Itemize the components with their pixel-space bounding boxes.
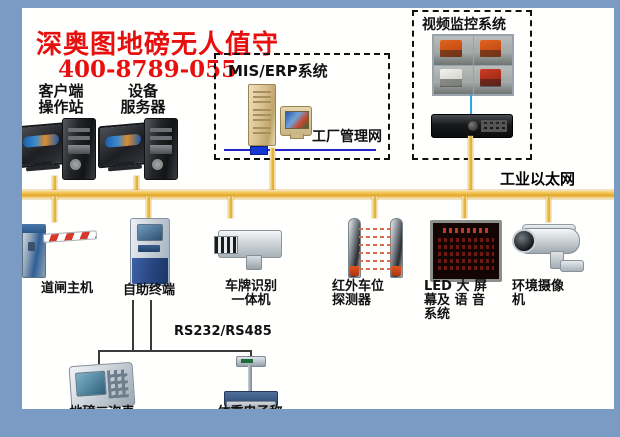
lan-line <box>224 149 376 151</box>
group-title-mis-erp: MIS/ERP系统 <box>228 60 328 81</box>
serial-wire <box>132 300 134 352</box>
bullet-camera-icon <box>510 220 590 272</box>
diagram-canvas: 深奥图地磅无人值守 400-8789-055 客户端 操作站 设备 服务器 MI… <box>22 8 614 409</box>
barrier-gate-icon <box>22 214 96 276</box>
label-factory-network: 工厂管理网 <box>312 126 382 146</box>
drop-line <box>462 196 467 218</box>
ethernet-backbone-bus <box>22 190 614 199</box>
desktop-pc-icon <box>98 118 184 180</box>
label-ir-detector: 红外车位 探测器 <box>332 280 420 308</box>
drop-line <box>228 196 233 218</box>
serial-wire <box>150 300 152 328</box>
serial-wire <box>150 326 152 352</box>
crt-monitor-icon <box>280 106 312 136</box>
platform-scale-icon <box>222 356 278 409</box>
dvr-icon <box>431 114 513 138</box>
label-lpr-camera: 车牌识别 一体机 <box>204 280 298 308</box>
label-platform-scale: 体重电子称 <box>172 406 328 409</box>
quad-view-monitor-icon <box>432 34 514 96</box>
drop-line <box>468 136 473 198</box>
desktop-pc-icon <box>22 118 102 180</box>
label-weighbridge-indicator: 地磅二次表 <box>56 406 148 409</box>
label-env-camera: 环境摄像 机 <box>512 280 600 308</box>
phone-number: 400-8789-055 <box>58 56 237 83</box>
weight-indicator-icon <box>69 362 136 409</box>
diagram-frame: 深奥图地磅无人值守 400-8789-055 客户端 操作站 设备 服务器 MI… <box>0 0 620 437</box>
label-industrial-ethernet: 工业以太网 <box>500 168 575 192</box>
serial-wire <box>98 350 134 352</box>
label-led-display: LED 大 屏 幕及 语 音 系统 <box>424 280 510 322</box>
label-rs232-rs485: RS232/RS485 <box>174 324 272 339</box>
lan-connector-icon <box>250 146 268 155</box>
label-client-workstation: 客户端 操作站 <box>22 84 104 116</box>
serial-wire <box>98 350 100 364</box>
box-camera-icon <box>212 224 288 270</box>
drop-line <box>546 196 551 222</box>
drop-line <box>146 196 151 218</box>
server-tower-icon <box>248 84 276 146</box>
infrared-detector-icon <box>344 214 406 280</box>
label-self-service-kiosk: 自助终端 <box>106 284 192 298</box>
video-link-wire <box>470 94 472 114</box>
label-barrier-gate: 道闸主机 <box>22 282 112 296</box>
kiosk-terminal-icon <box>130 218 170 286</box>
led-display-icon <box>430 220 502 282</box>
group-title-video-surveillance: 视频监控系统 <box>422 14 506 34</box>
label-device-server: 设备 服务器 <box>100 84 186 116</box>
